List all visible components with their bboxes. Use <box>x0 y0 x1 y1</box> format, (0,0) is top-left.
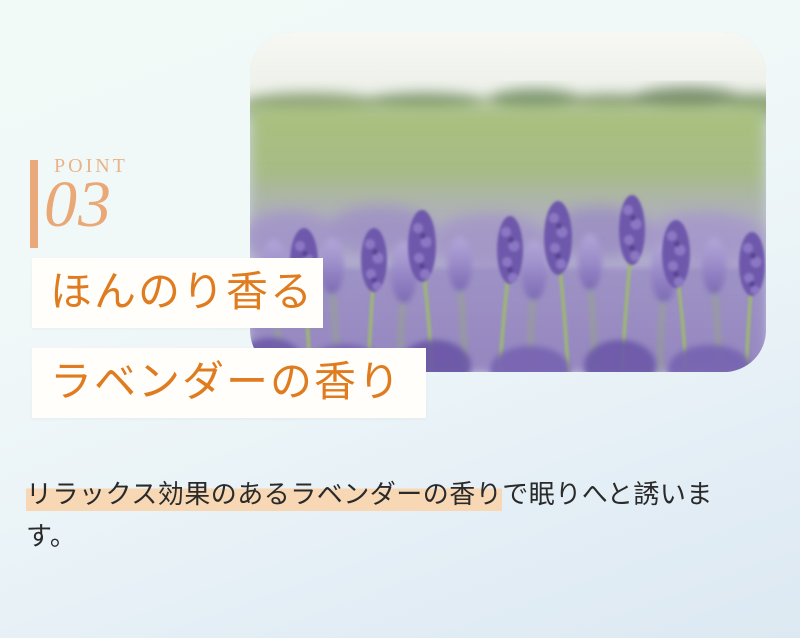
headline-line-2: ラベンダーの香り <box>32 348 426 418</box>
headline-line-1: ほんのり香る <box>32 258 323 328</box>
point-number: 03 <box>44 172 112 238</box>
headline-line-2-text: ラベンダーの香り <box>50 362 402 404</box>
headline-line-1-text: ほんのり香る <box>50 272 314 314</box>
point-accent-bar <box>30 160 38 248</box>
point-feature-panel: POINT 03 ほんのり香る ラベンダーの香り リラックス効果のあるラベンダー… <box>0 0 800 638</box>
body-description: リラックス効果のあるラベンダーの香りで眠りへと誘います。 <box>26 474 726 558</box>
point-badge: POINT 03 <box>30 156 230 251</box>
lavender-field-photo <box>250 32 766 372</box>
body-highlighted-text: リラックス効果のあるラベンダーの香り <box>26 480 502 511</box>
lavender-field-illustration <box>250 32 766 372</box>
